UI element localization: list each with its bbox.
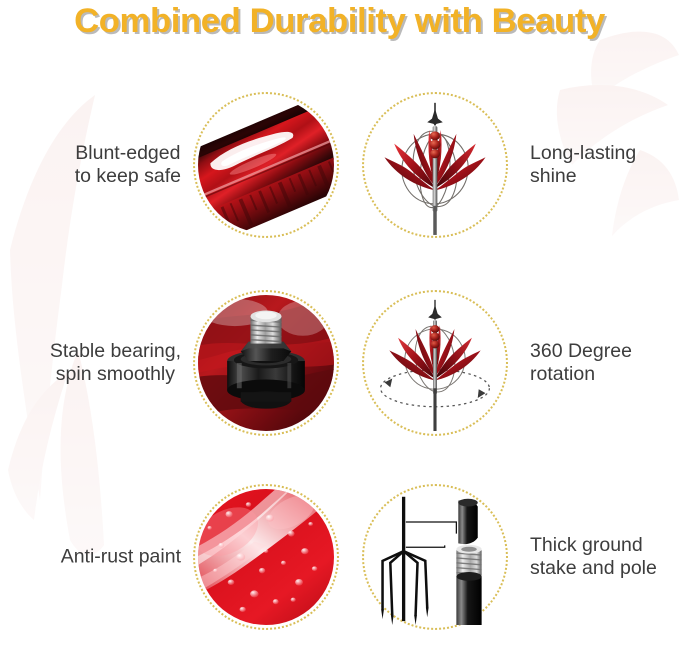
feature-row: Stable bearing, spin smoothly [0,268,679,458]
bearing-photo-frame [193,290,339,436]
water-beading-photo [198,489,334,625]
water-beading-photo-frame [193,484,339,630]
wind-spinner-photo [367,97,503,233]
feature-label: Thick ground stake and pole [530,534,657,580]
feature-label: Anti-rust paint [61,546,181,569]
feature-stable-bearing: Stable bearing, spin smoothly [0,268,339,458]
blunt-edge-photo-frame [193,92,339,238]
feature-grid: Blunt-edged to keep safe [0,62,679,627]
feature-thick-ground-stake: Thick ground stake and pole [340,462,679,652]
stake-and-pole-diagram-frame [362,484,508,630]
stake-and-pole-diagram [367,489,503,625]
rotation-diagram-frame [362,290,508,436]
feature-label: Stable bearing, spin smoothly [50,340,181,386]
blunt-edge-photo [198,97,334,233]
wind-spinner-photo-frame [362,92,508,238]
feature-label: Long-lasting shine [530,142,636,188]
feature-label: 360 Degree rotation [530,340,632,386]
feature-blunt-edged: Blunt-edged to keep safe [0,70,339,260]
feature-long-lasting-shine: Long-lasting shine [340,70,679,260]
feature-360-rotation: 360 Degree rotation [340,268,679,458]
page-title: Combined Durability with Beauty [0,2,679,41]
feature-row: Anti-rust paint [0,462,679,652]
feature-label: Blunt-edged to keep safe [75,142,181,188]
rotation-diagram [367,295,503,431]
feature-anti-rust-paint: Anti-rust paint [0,462,339,652]
feature-row: Blunt-edged to keep safe [0,70,679,260]
bearing-photo [198,295,334,431]
